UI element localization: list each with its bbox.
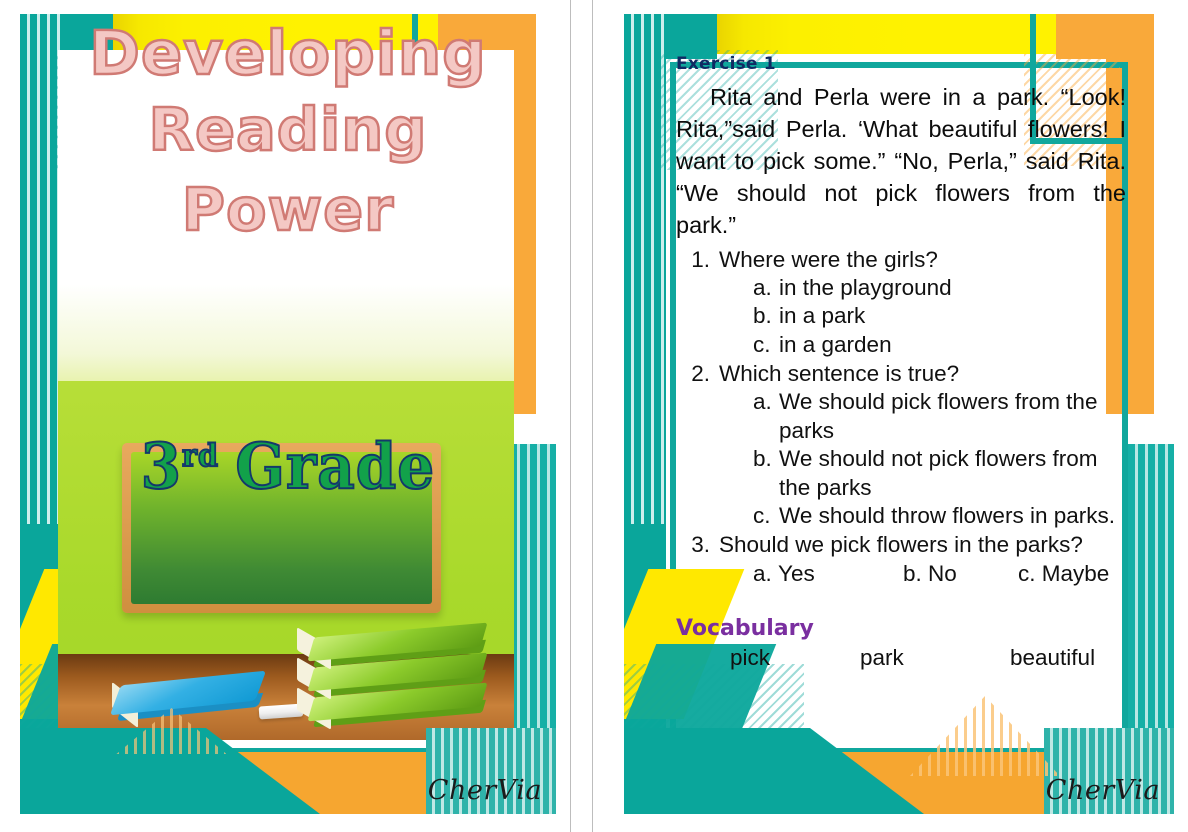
question-item: 1. Where were the girls? a. in the playg… [676, 246, 1126, 359]
choice-letter: a. [753, 388, 779, 445]
title-line-2: Reading [20, 99, 556, 160]
choice-item[interactable]: c. Maybe [1018, 560, 1109, 588]
blue-book [108, 678, 258, 722]
vocabulary-word: pick [730, 645, 860, 671]
stacked-green-books [297, 620, 482, 724]
choice-letter: b. [903, 560, 922, 588]
choice-list: a. We should pick flowers from the parks… [719, 388, 1126, 530]
cover-title: Developing Reading Power [20, 22, 556, 240]
choice-text: We should pick flowers from the parks [779, 388, 1126, 445]
choice-letter: c. [753, 331, 779, 359]
grade-word: Grade [236, 429, 436, 503]
gutter-rule [570, 0, 571, 832]
choice-letter: b. [753, 445, 779, 502]
exercise-heading: Exercise 1 [676, 54, 1126, 74]
question-item: 2. Which sentence is true? a. We should … [676, 360, 1126, 530]
question-body: Should we pick flowers in the parks? a. … [719, 531, 1126, 588]
gutter-rule [592, 0, 593, 832]
choice-item[interactable]: b. No [903, 560, 1018, 588]
question-number: 2. [676, 360, 719, 530]
green-book [297, 630, 482, 664]
choice-letter: a. [753, 274, 779, 302]
choice-letter: b. [753, 302, 779, 330]
vocabulary-word: beautiful [1010, 645, 1095, 671]
choice-item[interactable]: c. in a garden [753, 331, 1126, 359]
choice-list: a. in the playground b. in a park c. in … [719, 274, 1126, 359]
choice-item[interactable]: a. in the playground [753, 274, 1126, 302]
question-list: 1. Where were the girls? a. in the playg… [676, 246, 1126, 588]
choice-text: We should throw flowers in parks. [779, 502, 1126, 530]
choice-letter: c. [753, 502, 779, 530]
grade-ordinal: rd [182, 438, 219, 474]
choice-text: Yes [778, 560, 815, 588]
choice-letter: a. [753, 560, 772, 588]
choice-item[interactable]: b. in a park [753, 302, 1126, 330]
choice-text: No [928, 560, 957, 588]
worksheet-sheet: Exercise 1 Rita and Perla were in a park… [624, 14, 1174, 814]
two-page-spread: Developing Reading Power 3rdGrade CherVi… [0, 0, 1188, 832]
vocabulary-word-list: pick park beautiful [676, 645, 1126, 671]
top-yellow-band [717, 14, 1056, 54]
right-teal-stripes [1128, 444, 1174, 774]
worksheet-signature: CherVia [1046, 775, 1160, 806]
choice-item[interactable]: b. We should not pick flowers from the p… [753, 445, 1126, 502]
page-cover: Developing Reading Power 3rdGrade CherVi… [0, 0, 570, 832]
question-number: 1. [676, 246, 719, 359]
choice-list-inline: a. Yes b. No c. Maybe [719, 560, 1126, 588]
reading-passage: Rita and Perla were in a park. “Look! Ri… [676, 82, 1126, 242]
question-number: 3. [676, 531, 719, 588]
question-body: Where were the girls? a. in the playgrou… [719, 246, 1126, 359]
page-worksheet: Exercise 1 Rita and Perla were in a park… [604, 0, 1188, 832]
question-text: Where were the girls? [719, 246, 1126, 274]
choice-text: in the playground [779, 274, 1126, 302]
grade-number: 3 [141, 429, 182, 503]
vocabulary-heading: Vocabulary [676, 616, 1126, 641]
question-body: Which sentence is true? a. We should pic… [719, 360, 1126, 530]
question-text: Which sentence is true? [719, 360, 1126, 388]
title-line-3: Power [20, 179, 556, 240]
title-line-1: Developing [20, 22, 556, 85]
choice-item[interactable]: c. We should throw flowers in parks. [753, 502, 1126, 530]
choice-item[interactable]: a. We should pick flowers from the parks [753, 388, 1126, 445]
choice-text: in a garden [779, 331, 1126, 359]
choice-text: We should not pick flowers from the park… [779, 445, 1126, 502]
worksheet-content: Exercise 1 Rita and Perla were in a park… [676, 54, 1126, 704]
grade-text: 3rdGrade [141, 429, 435, 503]
question-item: 3. Should we pick flowers in the parks? … [676, 531, 1126, 588]
choice-letter: c. [1018, 560, 1036, 588]
choice-item[interactable]: a. Yes [753, 560, 903, 588]
question-text: Should we pick flowers in the parks? [719, 531, 1126, 559]
choice-text: in a park [779, 302, 1126, 330]
cover-sheet: Developing Reading Power 3rdGrade CherVi… [20, 14, 556, 814]
cover-signature: CherVia [428, 775, 542, 806]
choice-text: Maybe [1042, 560, 1110, 588]
vocabulary-word: park [860, 645, 1010, 671]
grade-label: 3rdGrade [20, 429, 556, 503]
